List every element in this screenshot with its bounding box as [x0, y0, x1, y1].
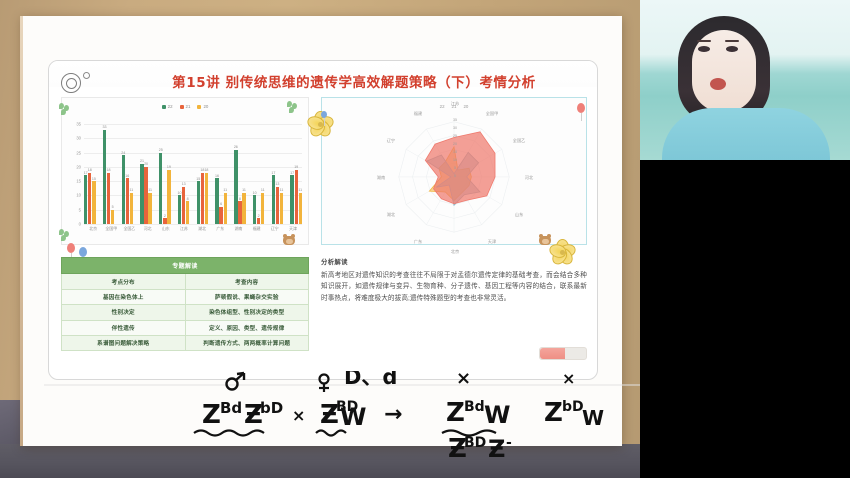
y-axis-tick: 10 [76, 193, 81, 198]
video-letterbox [640, 160, 850, 478]
handwritten-squiggle [194, 431, 264, 436]
bar-22[interactable]: 16 [215, 178, 218, 224]
bar-20[interactable]: 11 [261, 193, 264, 224]
bar-value-label: 17 [290, 172, 294, 176]
x-axis-label: 湖北 [193, 226, 211, 236]
bear-decoration-icon [537, 233, 553, 246]
bar-21[interactable]: 2 [257, 218, 260, 224]
page-title: 第15讲 别传统思维的遗传学高效解题策略（下）考情分析 [119, 71, 589, 91]
bar-value-label: 20 [144, 163, 148, 167]
legend-label: 21 [186, 104, 191, 109]
handwritten-genotype-p3-w: W [340, 403, 366, 431]
eyebrow-left [697, 40, 711, 42]
bar-22[interactable]: 10 [253, 195, 256, 224]
table-cell-topic: 基因在染色体上 [62, 289, 186, 304]
handwritten-offspring-2-sup: bD [562, 399, 584, 415]
handwritten-genotype-p2: Ƶ [244, 400, 263, 430]
bar-22[interactable]: 17 [84, 175, 87, 224]
bar-value-label: 25 [159, 149, 163, 153]
table-cell-content: 萨顿假说、果蝇杂交实验 [185, 289, 309, 304]
bar-chart-legend: 22 21 20 [62, 104, 308, 109]
radar-chart-panel: 22 21 20 35302520151050江苏全国甲全国乙河北山东天津北京广… [321, 97, 587, 245]
radar-label-全国乙: 全国乙 [513, 138, 526, 144]
bar-22[interactable]: 10 [178, 195, 181, 224]
handwritten-genotype-p2-sup: bD [260, 399, 283, 417]
bar-20[interactable]: 19 [167, 170, 170, 224]
radar-axis-tick: 35 [453, 119, 457, 123]
handwritten-genotype-p1-sup: Bd [220, 399, 242, 417]
legend-item-22[interactable]: 22 [162, 104, 173, 109]
bar-20[interactable]: 11 [280, 193, 283, 224]
bar-21[interactable]: 2 [163, 218, 166, 224]
legend-swatch [180, 105, 184, 109]
balloon-decoration-icon [321, 111, 327, 118]
bar-20[interactable]: 8 [186, 201, 189, 224]
background-bottom-band [0, 444, 640, 478]
bar-value-label: 6 [220, 203, 222, 207]
bar-group: 17 19 11 [290, 124, 302, 224]
bear-decoration-icon [281, 233, 297, 246]
legend-item-21[interactable]: 21 [180, 104, 191, 109]
grid-line: 0 [84, 224, 302, 225]
bar-20[interactable]: 11 [130, 193, 133, 224]
bar-value-label: 13 [182, 183, 186, 187]
slide-paper: 第15讲 别传统思维的遗传学高效解题策略（下）考情分析 22 21 20 0 5… [22, 16, 622, 446]
radar-axis-tick: 20 [453, 143, 457, 147]
bar-group: 10 13 8 [178, 124, 190, 224]
bar-value-label: 2 [164, 215, 166, 219]
bar-21[interactable]: 8 [238, 201, 241, 224]
leaf-decoration-icon [59, 103, 73, 117]
bar-chart-panel: 22 21 20 0 5 10 15 20 [61, 97, 309, 245]
bar-21[interactable]: 20 [144, 167, 147, 224]
bar-value-label: 11 [261, 189, 265, 193]
table-cell-topic: 伴性遗传 [62, 320, 186, 335]
table-row: 基因在染色体上萨顿假说、果蝇杂交实验 [62, 289, 309, 304]
table-row: 伴性遗传定义、原因、类型、遗传规律 [62, 320, 309, 335]
bar-value-label: 11 [298, 189, 302, 193]
bar-value-label: 17 [271, 172, 275, 176]
x-axis-label: 山东 [157, 226, 175, 236]
y-axis-tick: 5 [79, 207, 81, 212]
legend-swatch [197, 105, 201, 109]
eyebrow-right [725, 40, 739, 42]
bar-group: 21 20 11 [140, 124, 152, 224]
table-cell-content: 染色体组型、性别决定的类型 [185, 305, 309, 320]
torso [662, 108, 830, 160]
bar-value-label: 26 [234, 146, 238, 150]
table-column-header: 考点分布 [62, 274, 186, 289]
bar-value-label: 2 [258, 215, 260, 219]
bar-value-label: 11 [223, 189, 227, 193]
webcam-panel[interactable] [640, 0, 850, 478]
bar-value-label: 18 [88, 169, 92, 173]
x-axis-label: 福建 [248, 226, 266, 236]
bar-21[interactable]: 13 [182, 187, 185, 224]
table-cell-topic: 性别决定 [62, 305, 186, 320]
bar-value-label: 11 [242, 189, 246, 193]
radar-axis-tick: 30 [453, 127, 457, 131]
bar-20[interactable]: 11 [148, 193, 151, 224]
bar-group: 25 2 19 [159, 124, 171, 224]
bar-22[interactable]: 15 [197, 181, 200, 224]
flower-decoration-icon [305, 109, 335, 139]
bar-chart-x-axis: 北京全国甲全国乙河北山东江苏湖北广东湖南福建辽宁天津 [84, 226, 302, 236]
radar-chart-plot: 35302520151050江苏全国甲全国乙河北山东天津北京广东湖北湖南辽宁福建 [322, 98, 586, 244]
bar-21[interactable]: 16 [126, 178, 129, 224]
teacher-video-feed[interactable] [640, 0, 850, 160]
bar-21[interactable]: 18 [107, 173, 110, 224]
y-axis-tick: 20 [76, 164, 81, 169]
legend-label: 22 [168, 104, 173, 109]
bar-21[interactable]: 13 [276, 187, 279, 224]
bar-value-label: 15 [196, 178, 200, 182]
bar-21[interactable]: 6 [219, 207, 222, 224]
bar-21[interactable]: 19 [295, 170, 298, 224]
bar-value-label: 8 [187, 198, 189, 202]
bar-22[interactable]: 24 [122, 155, 125, 224]
legend-swatch [162, 105, 166, 109]
target-icon [61, 71, 95, 95]
x-axis-label: 湖南 [229, 226, 247, 236]
bar-22[interactable]: 25 [159, 153, 162, 224]
handwritten-genotype-p3-sup: BD [336, 399, 358, 415]
topic-analysis-table: 专题解读 考点分布考查内容基因在染色体上萨顿假说、果蝇杂交实验性别决定染色体组型… [61, 257, 309, 351]
handwritten-offspring-1-sup: Bd [464, 399, 485, 415]
eye-right [726, 46, 738, 52]
radar-label-天津: 天津 [488, 239, 496, 245]
table-column-header: 考查内容 [185, 274, 309, 289]
table-header-title: 专题解读 [62, 258, 309, 274]
radar-label-湖南: 湖南 [377, 175, 385, 181]
x-axis-label: 江苏 [175, 226, 193, 236]
bar-value-label: 18 [107, 169, 111, 173]
bar-value-label: 18 [204, 169, 208, 173]
eye-left [698, 46, 710, 52]
bar-group: 17 13 11 [272, 124, 284, 224]
leaf-decoration-icon [59, 229, 73, 243]
radar-label-北京: 北京 [451, 249, 459, 255]
bar-22[interactable]: 33 [103, 130, 106, 224]
balloon-decoration-icon [577, 103, 585, 113]
analysis-section: 分析解读 新高考地区对遗传知识的考查往往不局限于对孟德尔遗传定律的基础考查，而会… [321, 257, 587, 304]
radar-label-福建: 福建 [414, 111, 422, 117]
radar-label-全国甲: 全国甲 [486, 111, 499, 117]
bar-20[interactable]: 11 [299, 193, 302, 224]
x-axis-label: 全国乙 [120, 226, 138, 236]
handwritten-squiggle [316, 431, 346, 436]
radar-label-河北: 河北 [525, 175, 533, 181]
bar-group: 10 2 11 [253, 124, 265, 224]
radar-series-22 [425, 132, 495, 204]
radar-label-山东: 山东 [515, 212, 523, 218]
y-axis-tick: 30 [76, 136, 81, 141]
bar-value-label: 11 [148, 189, 152, 193]
table-row: 性别决定染色体组型、性别决定的类型 [62, 305, 309, 320]
bar-value-label: 19 [294, 166, 298, 170]
radar-axis-tick: 25 [453, 135, 457, 139]
handwritten-offspring-1-w: W [484, 401, 510, 429]
radar-axis-tick: 5 [454, 167, 456, 171]
balloon-decoration-icon [67, 243, 75, 253]
bar-20[interactable]: 5 [111, 210, 114, 224]
x-axis-label: 河北 [139, 226, 157, 236]
x-axis-label: 广东 [211, 226, 229, 236]
handwritten-cross-mark: × [292, 406, 305, 425]
legend-item-20[interactable]: 20 [197, 104, 208, 109]
bar-group: 33 18 5 [103, 124, 115, 224]
bar-group: 17 18 15 [84, 124, 96, 224]
table-cell-content: 判断遗传方式、两两概率计算问题 [185, 335, 309, 350]
bar-value-label: 19 [167, 166, 171, 170]
face [692, 30, 756, 112]
radar-label-江苏: 江苏 [451, 101, 459, 107]
bar-22[interactable]: 26 [234, 150, 237, 224]
progress-indicator[interactable] [539, 347, 587, 360]
bar-value-label: 33 [102, 126, 106, 130]
x-axis-label: 全国甲 [102, 226, 120, 236]
table-cell-content: 定义、原因、类型、遗传规律 [185, 320, 309, 335]
radar-axis-tick: 0 [454, 175, 456, 179]
handwritten-squiggle [442, 431, 496, 436]
handwritten-genotype-p3: Ƶ [320, 400, 339, 430]
y-axis-tick: 25 [76, 150, 81, 155]
handwritten-genotype-p1: Z [202, 400, 221, 430]
bar-value-label: 16 [125, 175, 129, 179]
bar-value-label: 8 [239, 198, 241, 202]
legend-label: 20 [203, 104, 208, 109]
table-row: 系谱图问题解决策略判断遗传方式、两两概率计算问题 [62, 335, 309, 350]
bar-chart-plot: 0 5 10 15 20 25 30 35 [84, 124, 302, 224]
radar-axis-tick: 15 [453, 151, 457, 155]
y-axis-tick: 0 [79, 222, 81, 227]
presentation-slide: 第15讲 别传统思维的遗传学高效解题策略（下）考情分析 22 21 20 0 5… [48, 60, 598, 380]
leaf-decoration-icon [287, 101, 301, 115]
bar-value-label: 16 [215, 175, 219, 179]
bar-groups: 17 18 15 33 18 5 24 [84, 124, 302, 224]
bar-group: 16 6 11 [215, 124, 227, 224]
handwritten-arrow: → [384, 402, 402, 427]
bar-group: 24 16 11 [122, 124, 134, 224]
radar-label-湖北: 湖北 [387, 212, 395, 218]
handwritten-offspring-2: Z [544, 398, 563, 428]
bar-20[interactable]: 18 [205, 173, 208, 224]
bar-group: 26 8 11 [234, 124, 246, 224]
x-axis-label: 北京 [84, 226, 102, 236]
y-axis-tick: 15 [76, 179, 81, 184]
bar-20[interactable]: 11 [242, 193, 245, 224]
bar-value-label: 10 [178, 192, 182, 196]
bar-value-label: 5 [112, 206, 114, 210]
bar-value-label: 11 [130, 189, 134, 193]
bar-value-label: 15 [92, 178, 96, 182]
handwritten-offspring-2-w: W [582, 406, 604, 430]
y-axis-tick: 35 [76, 122, 81, 127]
mouth [710, 78, 726, 90]
table-cell-topic: 系谱图问题解决策略 [62, 335, 186, 350]
screen-root: 第15讲 别传统思维的遗传学高效解题策略（下）考情分析 22 21 20 0 5… [0, 0, 850, 478]
bar-value-label: 10 [253, 192, 257, 196]
bar-value-label: 11 [280, 189, 284, 193]
analysis-body: 新高考地区对遗传知识的考查往往不局限于对孟德尔遗传定律的基础考查，而会结合多种知… [321, 270, 587, 304]
handwritten-offspring-1: Z [446, 398, 465, 428]
bar-20[interactable]: 15 [92, 181, 95, 224]
bar-value-label: 13 [275, 183, 279, 187]
bar-value-label: 24 [121, 152, 125, 156]
bar-22[interactable]: 17 [290, 175, 293, 224]
radar-label-广东: 广东 [414, 239, 422, 245]
bar-21[interactable]: 18 [201, 173, 204, 224]
analysis-heading: 分析解读 [321, 257, 587, 266]
bar-20[interactable]: 11 [224, 193, 227, 224]
radar-axis-tick: 10 [453, 159, 457, 163]
bar-group: 15 18 18 [197, 124, 209, 224]
balloon-decoration-icon [79, 247, 87, 257]
table-header-row: 考点分布考查内容 [62, 274, 309, 289]
radar-label-辽宁: 辽宁 [387, 138, 395, 144]
bar-22[interactable]: 21 [140, 164, 143, 224]
